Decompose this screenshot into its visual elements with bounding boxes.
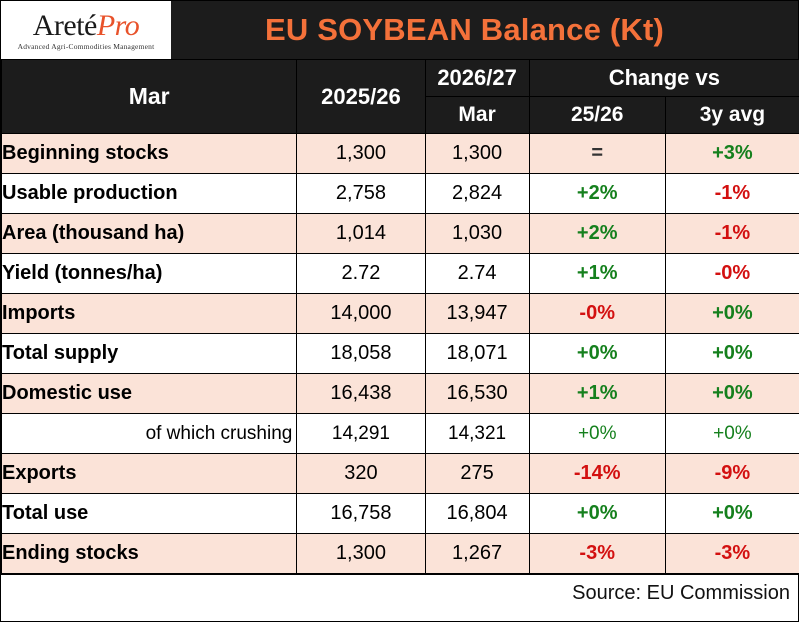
value-2025-26: 16,758 [297,494,425,534]
report-header: AretéPro Advanced Agri-Commodities Manag… [1,1,798,59]
value-2025-26: 14,000 [297,294,425,334]
value-2025-26: 2.72 [297,254,425,294]
row-label: Area (thousand ha) [2,214,297,254]
value-2025-26: 18,058 [297,334,425,374]
balance-table: Mar 2025/26 2026/27 Change vs Mar 25/26 … [1,59,799,574]
change-vs-2526: -14% [529,454,665,494]
header-change-vs-3y: 3y avg [665,97,799,134]
header-col-2025-26: 2025/26 [297,60,425,134]
source-label: Source: EU Commission [572,582,790,605]
value-2026-27: 14,321 [425,414,529,454]
table-body: Beginning stocks1,3001,300=+3%Usable pro… [2,134,799,574]
header-corner-month: Mar [2,60,297,134]
value-2026-27: 275 [425,454,529,494]
header-col-2026-27: 2026/27 [425,60,529,97]
change-vs-3y-avg: -1% [665,174,799,214]
row-label: Ending stocks [2,534,297,574]
value-2026-27: 16,530 [425,374,529,414]
brand-name-part1: Areté [33,9,97,42]
table-row: Yield (tonnes/ha)2.722.74+1%-0% [2,254,799,294]
value-2026-27: 18,071 [425,334,529,374]
header-change-vs-2526: 25/26 [529,97,665,134]
change-vs-3y-avg: +3% [665,134,799,174]
change-vs-3y-avg: +0% [665,334,799,374]
change-vs-2526: +0% [529,494,665,534]
table-row: Exports320275-14%-9% [2,454,799,494]
value-2025-26: 1,300 [297,134,425,174]
change-vs-2526: +0% [529,334,665,374]
header-change-group: Change vs [529,60,799,97]
page-title: EU SOYBEAN Balance (Kt) [171,12,798,48]
change-vs-2526: +0% [529,414,665,454]
table-row: of which crushing14,29114,321+0%+0% [2,414,799,454]
table-row: Area (thousand ha)1,0141,030+2%-1% [2,214,799,254]
change-vs-3y-avg: +0% [665,494,799,534]
row-label: of which crushing [2,414,297,454]
table-row: Domestic use16,43816,530+1%+0% [2,374,799,414]
change-vs-3y-avg: -0% [665,254,799,294]
change-vs-2526: +1% [529,254,665,294]
value-2026-27: 2.74 [425,254,529,294]
change-vs-2526: -3% [529,534,665,574]
change-vs-2526: -0% [529,294,665,334]
value-2025-26: 16,438 [297,374,425,414]
value-2025-26: 2,758 [297,174,425,214]
table-row: Usable production2,7582,824+2%-1% [2,174,799,214]
brand-name-part2: Pro [97,9,139,42]
value-2026-27: 1,030 [425,214,529,254]
value-2026-27: 16,804 [425,494,529,534]
value-2026-27: 1,300 [425,134,529,174]
change-vs-3y-avg: -1% [665,214,799,254]
header-col-2026-27-month: Mar [425,97,529,134]
row-label: Total supply [2,334,297,374]
row-label: Yield (tonnes/ha) [2,254,297,294]
change-vs-3y-avg: +0% [665,414,799,454]
value-2026-27: 2,824 [425,174,529,214]
brand-tagline: Advanced Agri-Commodities Management [18,42,155,51]
report-card: AretéPro Advanced Agri-Commodities Manag… [0,0,799,622]
table-row: Total use16,75816,804+0%+0% [2,494,799,534]
change-vs-3y-avg: +0% [665,294,799,334]
brand-logo-text: AretéPro [33,11,140,41]
value-2025-26: 1,014 [297,214,425,254]
change-vs-2526: = [529,134,665,174]
change-vs-3y-avg: +0% [665,374,799,414]
source-footer: Source: EU Commission [1,574,798,611]
table-head: Mar 2025/26 2026/27 Change vs Mar 25/26 … [2,60,799,134]
change-vs-3y-avg: -3% [665,534,799,574]
change-vs-2526: +2% [529,214,665,254]
table-row: Total supply18,05818,071+0%+0% [2,334,799,374]
change-vs-2526: +1% [529,374,665,414]
value-2026-27: 13,947 [425,294,529,334]
row-label: Beginning stocks [2,134,297,174]
brand-logo: AretéPro Advanced Agri-Commodities Manag… [1,1,171,59]
value-2025-26: 1,300 [297,534,425,574]
row-label: Total use [2,494,297,534]
row-label: Exports [2,454,297,494]
table-row: Beginning stocks1,3001,300=+3% [2,134,799,174]
table-row: Ending stocks1,3001,267-3%-3% [2,534,799,574]
row-label: Domestic use [2,374,297,414]
value-2026-27: 1,267 [425,534,529,574]
change-vs-3y-avg: -9% [665,454,799,494]
change-vs-2526: +2% [529,174,665,214]
value-2025-26: 14,291 [297,414,425,454]
row-label: Usable production [2,174,297,214]
value-2025-26: 320 [297,454,425,494]
row-label: Imports [2,294,297,334]
table-row: Imports14,00013,947-0%+0% [2,294,799,334]
table-header-row-1: Mar 2025/26 2026/27 Change vs [2,60,799,97]
